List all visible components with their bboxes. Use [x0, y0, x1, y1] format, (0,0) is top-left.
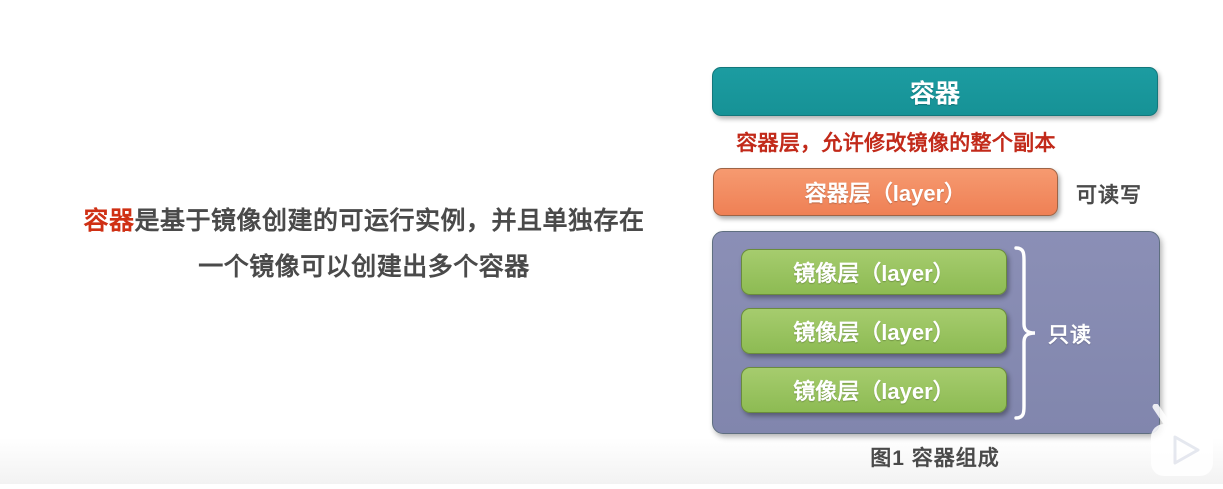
image-layer-box: 镜像层（layer） — [741, 249, 1007, 295]
explanation-keyword: 容器 — [83, 207, 134, 235]
container-header-label: 容器 — [910, 74, 960, 110]
read-write-label: 可读写 — [1076, 179, 1142, 209]
image-layer-box: 镜像层（layer） — [741, 367, 1007, 413]
curly-brace-icon — [1013, 246, 1039, 420]
image-layer-box: 镜像层（layer） — [741, 308, 1007, 354]
explanation-line-1: 容器是基于镜像创建的可运行实例，并且单独存在 — [83, 207, 644, 235]
image-layer-label: 镜像层（layer） — [793, 256, 954, 288]
container-layer-label: 容器层（layer） — [805, 176, 966, 208]
image-layer-label: 镜像层（layer） — [793, 374, 954, 406]
explanation-line-1-rest: 是基于镜像创建的可运行实例，并且单独存在 — [135, 207, 645, 235]
read-only-label: 只读 — [1048, 319, 1092, 349]
explanation-text: 容器是基于镜像创建的可运行实例，并且单独存在 一个镜像可以创建出多个容器 — [74, 198, 654, 290]
container-composition-diagram: 容器 容器层，允许修改镜像的整个副本 容器层（layer） 可读写 镜像层（la… — [712, 67, 1158, 472]
image-layer-label: 镜像层（layer） — [793, 315, 954, 347]
figure-caption: 图1 容器组成 — [712, 442, 1158, 472]
image-layers-block: 镜像层（layer） 镜像层（layer） 镜像层（layer） 只读 — [712, 231, 1160, 434]
container-layer-annotation: 容器层，允许修改镜像的整个副本 — [718, 127, 1074, 157]
explanation-line-2: 一个镜像可以创建出多个容器 — [74, 244, 654, 290]
container-header-box: 容器 — [712, 67, 1158, 116]
container-layer-box: 容器层（layer） — [713, 168, 1058, 216]
